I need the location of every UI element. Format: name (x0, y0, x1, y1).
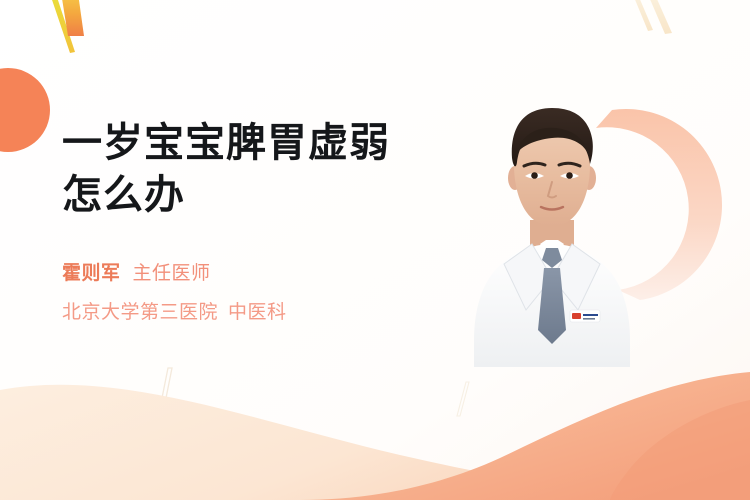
doctor-name: 霍则军 (62, 263, 121, 284)
doctor-rank: 主任医师 (133, 263, 211, 284)
doctor-info: 霍则军主任医师 北京大学第三医院中医科 (62, 259, 452, 328)
doctor-portrait-illustration (444, 92, 664, 367)
portrait-badge (570, 310, 600, 322)
doctor-hospital: 北京大学第三医院 (62, 302, 218, 323)
doctor-name-line: 霍则军主任医师 (62, 259, 452, 288)
promo-card: 一岁宝宝脾胃虚弱 怎么办 霍则军主任医师 北京大学第三医院中医科 (0, 0, 750, 500)
doctor-hospital-line: 北京大学第三医院中医科 (62, 298, 452, 327)
title-line-1: 一岁宝宝脾胃虚弱 (62, 118, 452, 168)
text-block: 一岁宝宝脾胃虚弱 怎么办 霍则军主任医师 北京大学第三医院中医科 (62, 118, 452, 328)
doctor-department: 中医科 (228, 302, 287, 323)
doctor-portrait (444, 92, 664, 367)
title-line-2: 怎么办 (62, 170, 452, 220)
